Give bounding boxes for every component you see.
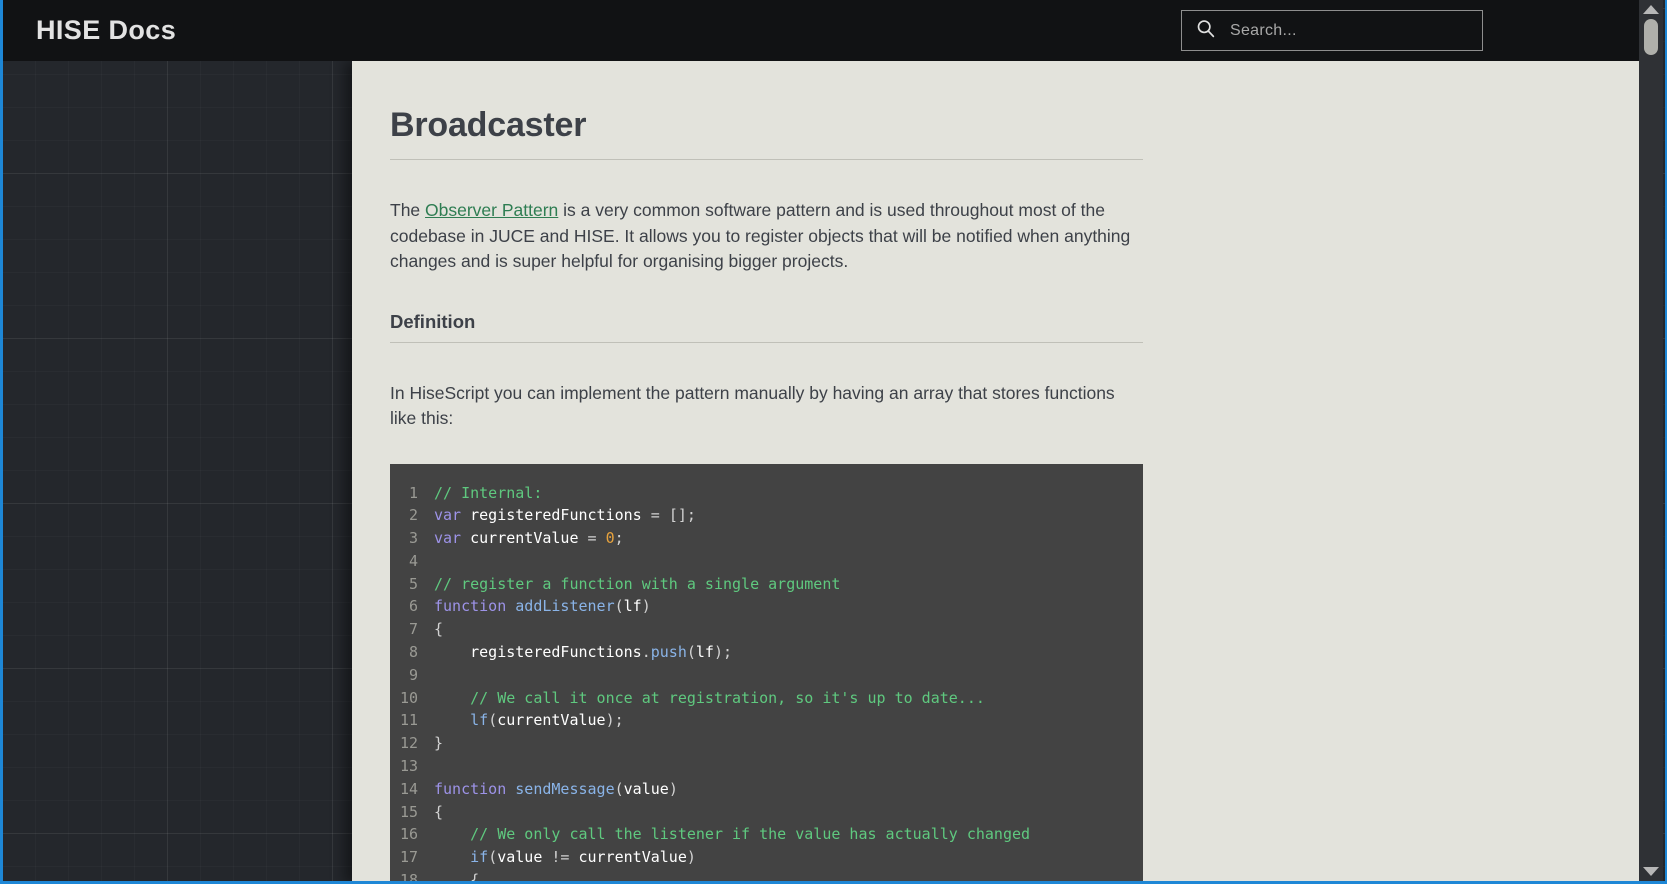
code-token: registeredFunctions [470, 506, 642, 524]
section-heading-definition: Definition [390, 311, 1143, 343]
code-line-content: var registeredFunctions = []; [434, 504, 696, 527]
code-line: 14function sendMessage(value) [390, 778, 1143, 801]
code-token: ( [615, 597, 624, 615]
code-line-content: // register a function with a single arg… [434, 573, 840, 596]
code-token: ( [615, 780, 624, 798]
code-line-number: 11 [390, 709, 434, 732]
code-line-content: function sendMessage(value) [434, 778, 678, 801]
code-line-content: } [434, 732, 443, 755]
code-line: 5// register a function with a single ar… [390, 573, 1143, 596]
intro-text-before: The [390, 200, 425, 220]
code-token [434, 689, 470, 707]
code-token: = [579, 529, 606, 547]
code-token: push [651, 643, 687, 661]
code-line-content: if(value != currentValue) [434, 846, 696, 869]
code-token: currentValue [579, 848, 687, 866]
code-token: { [470, 871, 479, 884]
observer-pattern-link[interactable]: Observer Pattern [425, 200, 558, 220]
code-token: []; [669, 506, 696, 524]
code-line-content: { [434, 869, 479, 884]
code-token: // Internal: [434, 484, 542, 502]
code-token: // register a function with a single arg… [434, 575, 840, 593]
code-token: ( [488, 711, 497, 729]
code-token: // We call it once at registration, so i… [470, 689, 985, 707]
scrollbar-thumb[interactable] [1644, 19, 1658, 55]
code-line: 13 [390, 755, 1143, 778]
code-line-number: 7 [390, 618, 434, 641]
chevron-up-icon[interactable] [1643, 5, 1659, 14]
code-token: lf [624, 597, 642, 615]
code-token: value [497, 848, 542, 866]
site-logo-title[interactable]: HISE Docs [36, 15, 176, 46]
search-input[interactable]: Search... [1181, 10, 1483, 51]
code-token: function [434, 597, 515, 615]
code-line-number: 16 [390, 823, 434, 846]
code-token: ) [687, 848, 696, 866]
code-token: addListener [515, 597, 614, 615]
code-line-content: registeredFunctions.push(lf); [434, 641, 732, 664]
vertical-scrollbar[interactable] [1639, 0, 1663, 881]
code-token: ); [606, 711, 624, 729]
code-line: 18 { [390, 869, 1143, 884]
code-block[interactable]: 1// Internal:2var registeredFunctions = … [390, 464, 1143, 884]
code-line-number: 9 [390, 664, 434, 687]
code-line-number: 6 [390, 595, 434, 618]
code-token: var [434, 506, 470, 524]
code-token: function [434, 780, 515, 798]
code-line-number: 12 [390, 732, 434, 755]
code-line: 1// Internal: [390, 482, 1143, 505]
page-title: Broadcaster [390, 106, 1143, 160]
code-line-number: 8 [390, 641, 434, 664]
code-line: 10 // We call it once at registration, s… [390, 687, 1143, 710]
code-line-content: var currentValue = 0; [434, 527, 624, 550]
code-line-number: 5 [390, 573, 434, 596]
code-line-number: 14 [390, 778, 434, 801]
code-token: registeredFunctions [470, 643, 642, 661]
code-token: var [434, 529, 470, 547]
code-token [434, 711, 470, 729]
code-token: currentValue [497, 711, 605, 729]
code-line: 16 // We only call the listener if the v… [390, 823, 1143, 846]
code-line-content: // We only call the listener if the valu… [434, 823, 1030, 846]
chevron-down-icon[interactable] [1643, 867, 1659, 876]
definition-paragraph: In HiseScript you can implement the patt… [390, 381, 1140, 432]
search-icon [1195, 18, 1216, 44]
code-line-content [434, 664, 443, 687]
code-line-number: 2 [390, 504, 434, 527]
code-line-content [434, 550, 443, 573]
intro-paragraph: The Observer Pattern is a very common so… [390, 198, 1140, 275]
code-line-content: lf(currentValue); [434, 709, 624, 732]
code-line-number: 17 [390, 846, 434, 869]
code-token: lf [470, 711, 488, 729]
top-navigation-bar: HISE Docs Search... [3, 0, 1644, 61]
code-line: 7{ [390, 618, 1143, 641]
code-token: value [624, 780, 669, 798]
code-token: ( [488, 848, 497, 866]
code-token: . [642, 643, 651, 661]
code-token [434, 825, 470, 843]
code-token [434, 643, 470, 661]
code-line-number: 3 [390, 527, 434, 550]
code-line-content: // We call it once at registration, so i… [434, 687, 985, 710]
code-token: ( [687, 643, 696, 661]
code-line-content: { [434, 618, 443, 641]
code-token: != [542, 848, 569, 866]
code-line-number: 15 [390, 801, 434, 824]
code-line-number: 13 [390, 755, 434, 778]
code-line: 6function addListener(lf) [390, 595, 1143, 618]
code-line-number: 18 [390, 869, 434, 884]
code-token: { [434, 620, 443, 638]
code-token: { [434, 803, 443, 821]
code-line: 4 [390, 550, 1143, 573]
code-token: // We only call the listener if the valu… [470, 825, 1030, 843]
code-line-content: // Internal: [434, 482, 542, 505]
code-line-content: { [434, 801, 443, 824]
code-line: 8 registeredFunctions.push(lf); [390, 641, 1143, 664]
code-line: 12} [390, 732, 1143, 755]
code-token: ) [669, 780, 678, 798]
code-token: currentValue [470, 529, 578, 547]
code-line-content: function addListener(lf) [434, 595, 651, 618]
code-token: sendMessage [515, 780, 614, 798]
code-line: 11 lf(currentValue); [390, 709, 1143, 732]
code-line-number: 10 [390, 687, 434, 710]
code-line-number: 1 [390, 482, 434, 505]
code-token: ); [714, 643, 732, 661]
code-token: 0 [606, 529, 615, 547]
code-token: if [470, 848, 488, 866]
code-token: ; [615, 529, 624, 547]
code-token [434, 848, 470, 866]
code-line-number: 4 [390, 550, 434, 573]
code-token: lf [696, 643, 714, 661]
code-token [434, 871, 470, 884]
document-content-pane: Broadcaster The Observer Pattern is a ve… [352, 61, 1644, 884]
code-token: = [642, 506, 669, 524]
code-token: } [434, 734, 443, 752]
code-line: 3var currentValue = 0; [390, 527, 1143, 550]
code-token: ) [642, 597, 651, 615]
search-placeholder-text: Search... [1230, 22, 1297, 40]
code-line: 9 [390, 664, 1143, 687]
code-line: 15{ [390, 801, 1143, 824]
code-line: 2var registeredFunctions = []; [390, 504, 1143, 527]
code-token [569, 848, 578, 866]
app-window: HISE Docs Search... Broadcaster The Obse… [0, 0, 1667, 884]
code-line: 17 if(value != currentValue) [390, 846, 1143, 869]
code-line-content [434, 755, 443, 778]
